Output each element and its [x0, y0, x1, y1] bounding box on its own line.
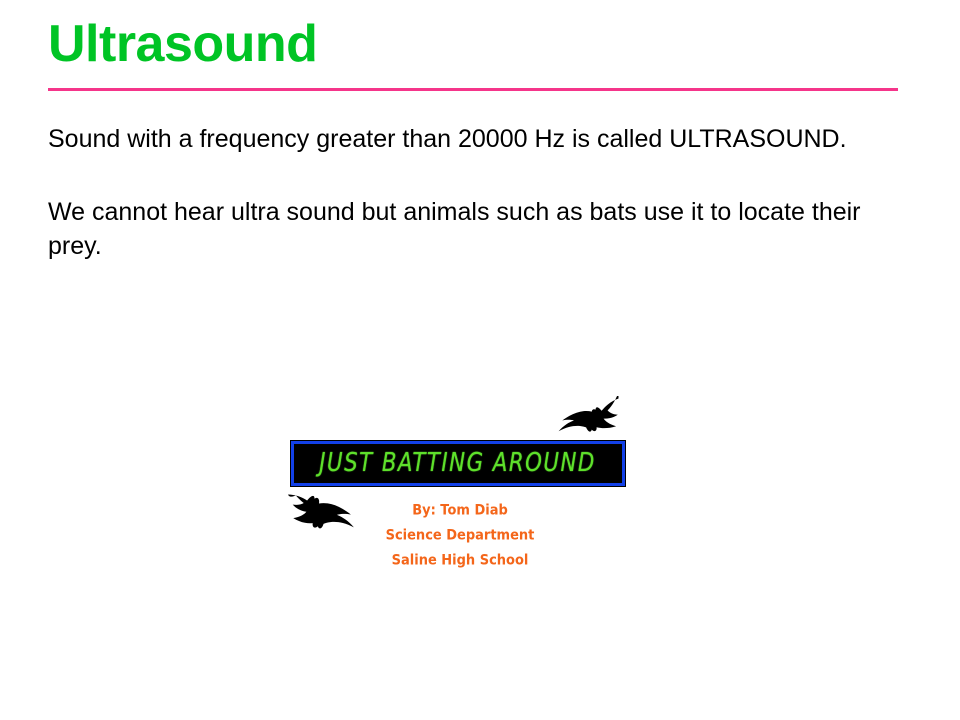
banner-title-text: JUST BATTING AROUND — [320, 449, 596, 479]
slide: Ultrasound Sound with a frequency greate… — [0, 0, 960, 720]
body-paragraph-2: We cannot hear ultra sound but animals s… — [48, 195, 908, 264]
title-divider-rule — [48, 88, 898, 91]
batting-around-clipart: JUST BATTING AROUND By: Tom Diab Science… — [280, 392, 640, 584]
credit-line-department: Science Department — [280, 528, 640, 542]
page-title: Ultrasound — [48, 16, 317, 72]
bat-silhouette-icon — [548, 396, 620, 440]
credit-line-author: By: Tom Diab — [280, 503, 640, 517]
slide-body: Sound with a frequency greater than 2000… — [48, 122, 908, 264]
clipart-credits: By: Tom Diab Science Department Saline H… — [280, 504, 640, 567]
banner-title-plaque: JUST BATTING AROUND — [290, 440, 626, 487]
credit-line-school: Saline High School — [280, 553, 640, 567]
body-paragraph-1: Sound with a frequency greater than 2000… — [48, 122, 908, 157]
